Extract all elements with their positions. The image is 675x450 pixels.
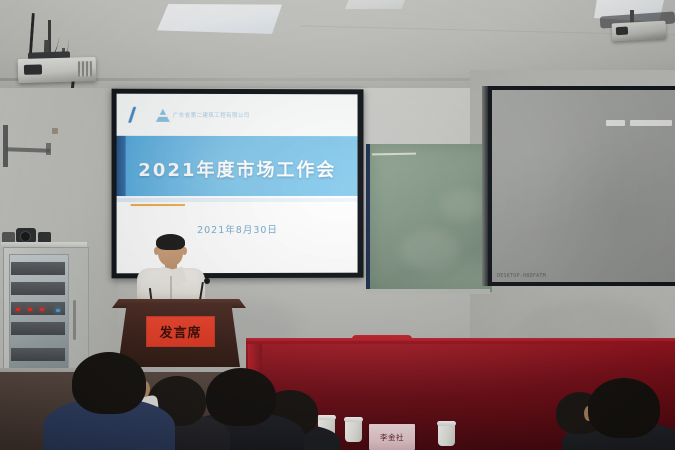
podium-sign-label: 发言席 — [159, 322, 201, 341]
slide-divider — [117, 198, 358, 202]
projector-lens-icon — [616, 27, 628, 36]
screen-surface: DESKTOP-H8DFATM — [492, 90, 675, 282]
screen-texture — [492, 90, 675, 282]
status-led-red — [40, 308, 44, 311]
wall-mount-arm — [46, 143, 51, 155]
cup-lid — [317, 415, 336, 420]
slide-title: 2021年度市场工作会 — [117, 156, 358, 182]
chalk-smudge — [400, 230, 460, 270]
camera-icon — [16, 228, 36, 243]
table-nameplate: 李金社 — [369, 424, 415, 450]
status-led-blue — [56, 309, 60, 312]
cup-lid — [344, 417, 363, 422]
screen-taskbar-badge — [630, 120, 672, 126]
main-projection-screen: 广东省第二建筑工程有限公司 2021年度市场工作会 2021年8月30日 — [112, 89, 364, 279]
conference-room-photo: DESKTOP-H8DFATM 广东省第二建筑工程有限公司 2021年度市场工作… — [0, 0, 675, 450]
cup-lid — [437, 421, 456, 426]
projector-vent — [78, 61, 92, 76]
ceiling-light-panel — [157, 4, 282, 34]
projector-lens-icon — [24, 64, 42, 74]
ceiling-projector-right — [612, 21, 667, 42]
triangle-logo-icon — [156, 109, 170, 122]
ceiling-light-panel — [345, 0, 405, 9]
status-led-red — [16, 308, 20, 311]
av-equipment-rack — [3, 247, 89, 384]
audience-member — [588, 378, 660, 438]
rack-unit — [11, 282, 65, 295]
paper-cup — [345, 420, 362, 442]
wall-bracket — [3, 125, 8, 167]
slide-accent-rule — [131, 204, 185, 206]
rack-door-handle — [73, 300, 76, 340]
secondary-projection-screen: DESKTOP-H8DFATM — [488, 86, 675, 286]
computer-name-label: DESKTOP-H8DFATM — [497, 273, 546, 279]
presentation-slide: 广东省第二建筑工程有限公司 2021年度市场工作会 2021年8月30日 — [117, 94, 358, 274]
rack-unit — [11, 322, 65, 335]
audience-member — [72, 352, 146, 414]
audience-member — [206, 368, 276, 426]
chalk-smudge — [440, 190, 485, 220]
slash-icon — [128, 107, 136, 123]
rack-unit — [11, 348, 65, 361]
speaker-hair — [156, 234, 185, 250]
slide-date: 2021年8月30日 — [117, 222, 358, 236]
ceiling-projector — [18, 57, 97, 83]
rack-unit — [11, 262, 65, 275]
wall-fixture — [52, 128, 58, 134]
nameplate-text: 李金社 — [369, 432, 415, 443]
status-led-red — [28, 308, 32, 311]
podium-sign: 发言席 — [146, 316, 215, 347]
slide-header: 广东省第二建筑工程有限公司 — [117, 94, 358, 136]
chalkboard-frame-bottom — [366, 289, 490, 294]
paper-cup — [438, 424, 455, 446]
company-logo-text: 广东省第二建筑工程有限公司 — [173, 111, 250, 119]
microphone-icon — [204, 278, 210, 284]
